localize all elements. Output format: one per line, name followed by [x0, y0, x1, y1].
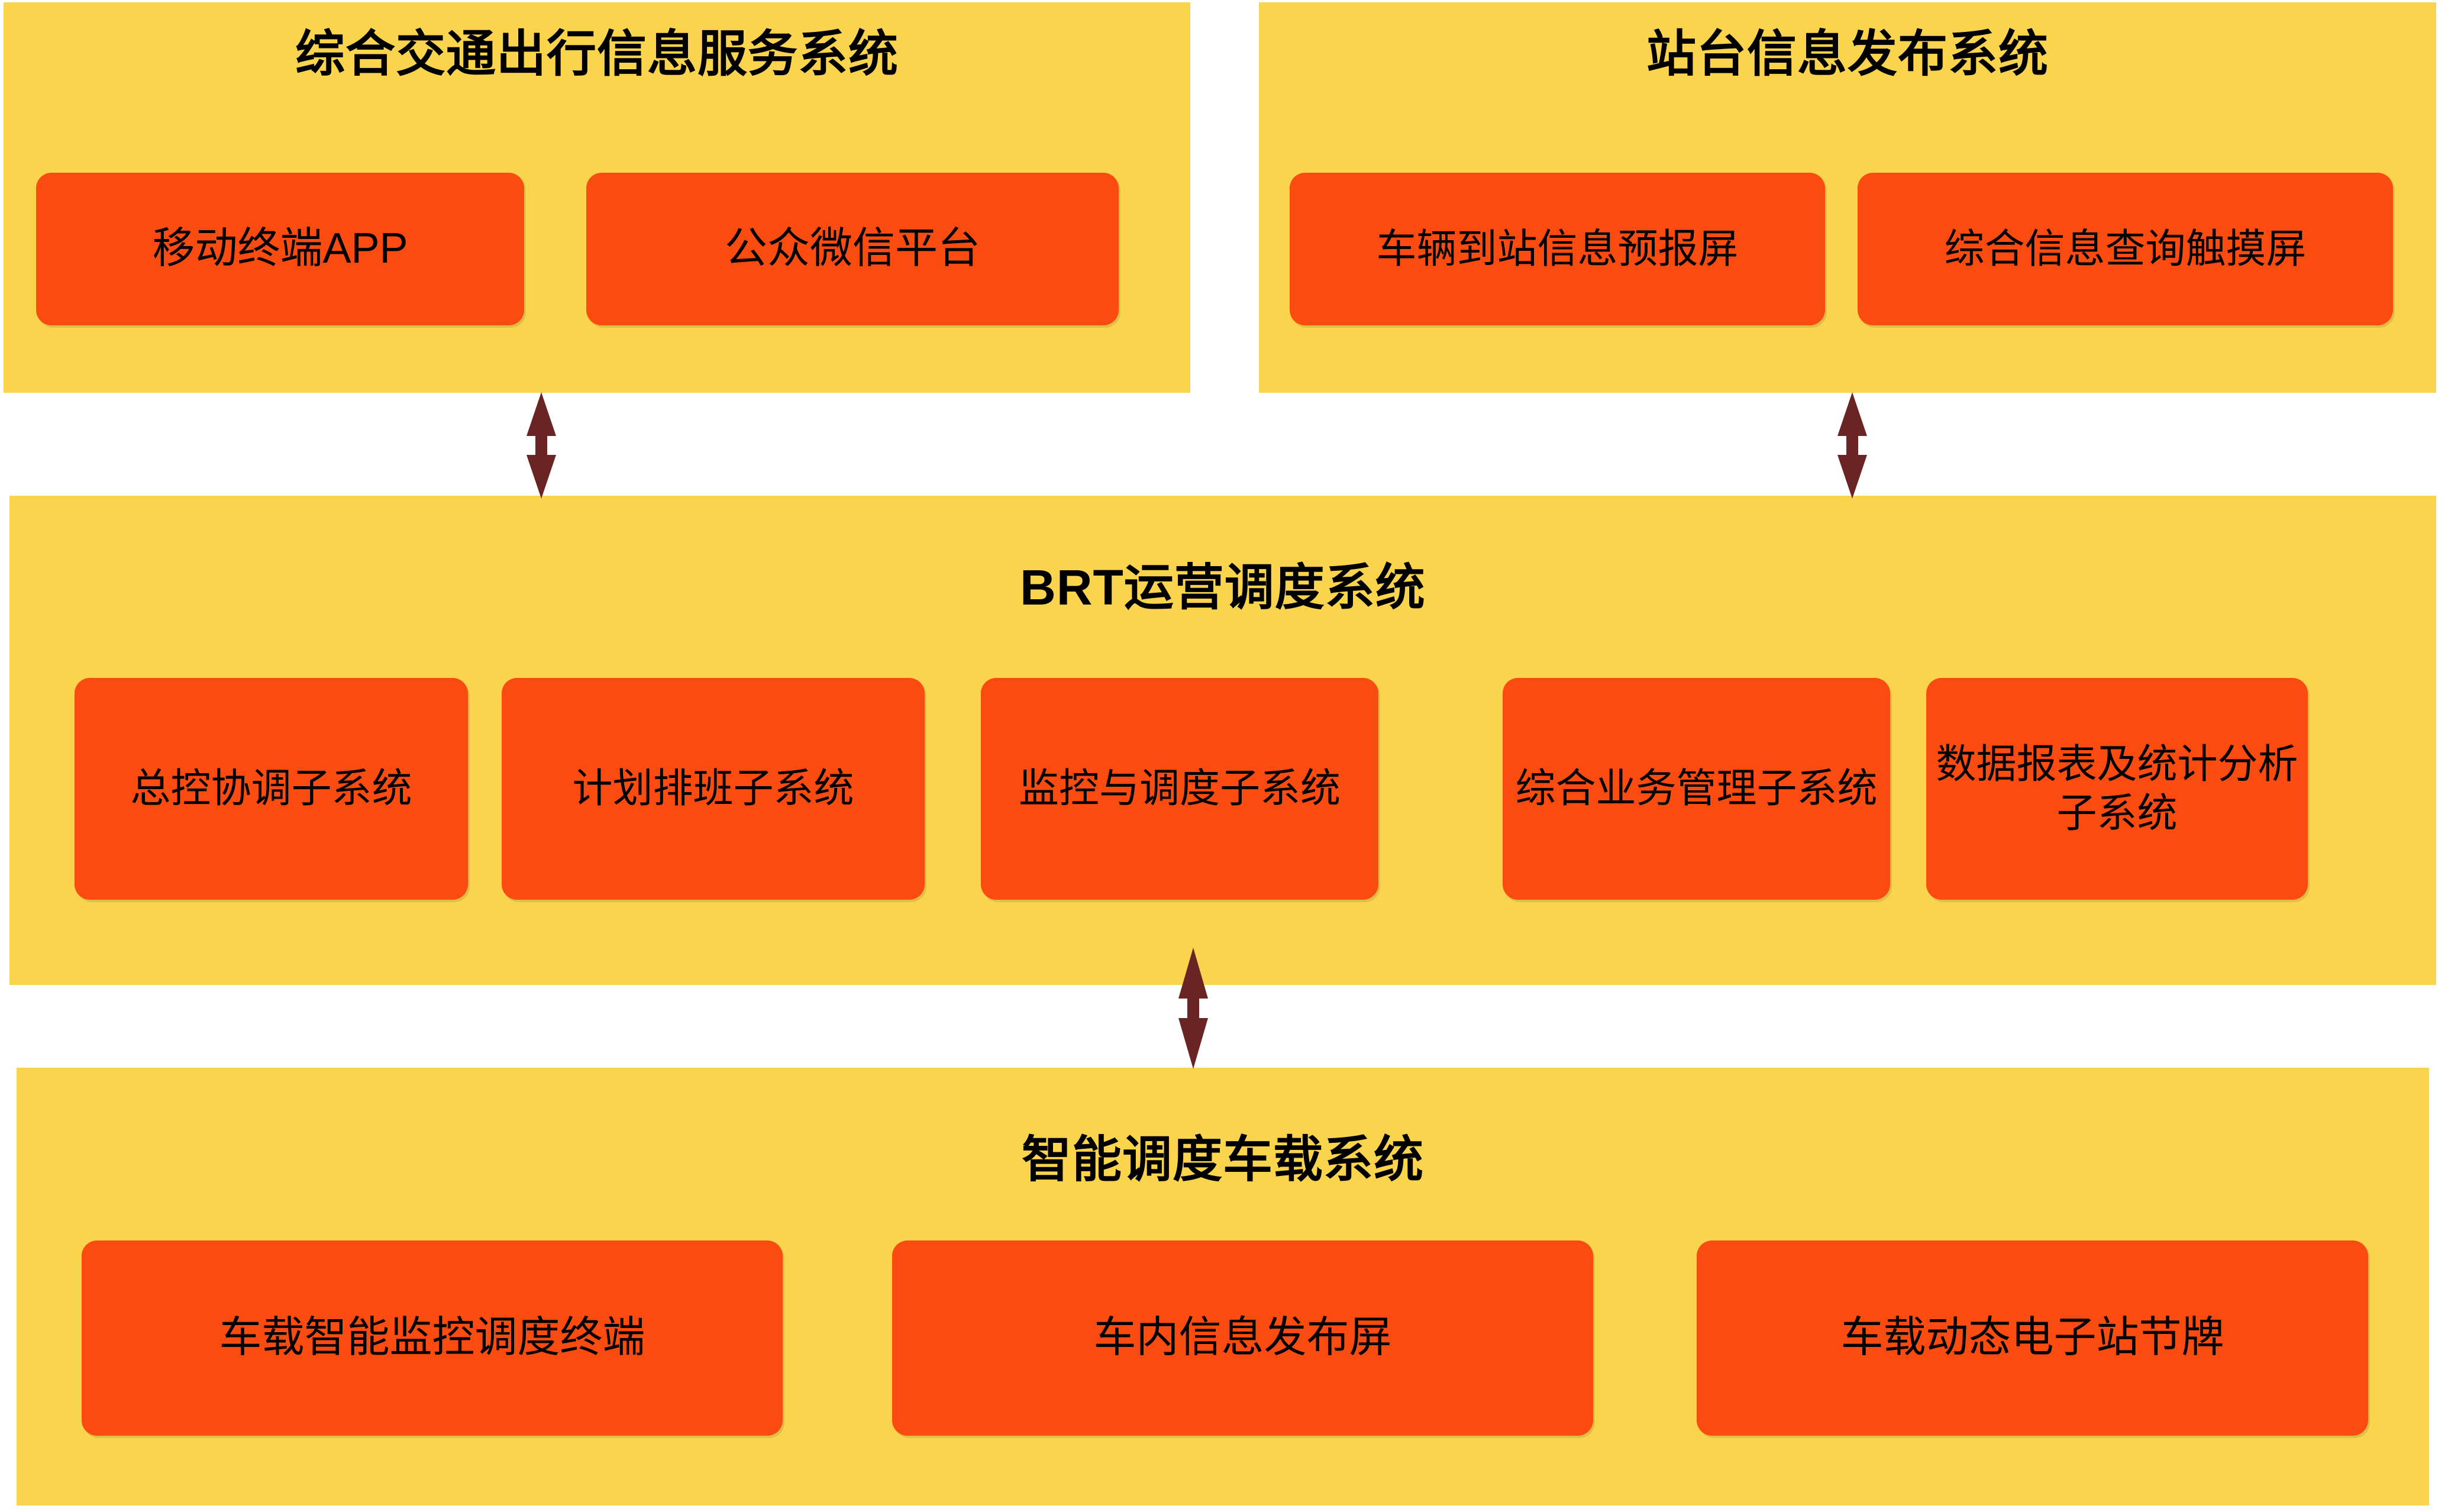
panel-platform-information-release-system: 站台信息发布系统 车辆到站信息预报屏 综合信息查询触摸屏 — [1259, 2, 2436, 393]
panel-title-travel-information-service-system: 综合交通出行信息服务系统 — [4, 14, 1190, 86]
box-onboard-intelligent-monitoring-dispatch-terminal[interactable]: 车载智能监控调度终端 — [82, 1240, 783, 1436]
box-central-control-coordination-subsystem[interactable]: 总控协调子系统 — [75, 678, 468, 900]
box-planning-shift-scheduling-subsystem[interactable]: 计划排班子系统 — [502, 678, 925, 900]
box-mobile-terminal-app[interactable]: 移动终端APP — [36, 173, 524, 325]
double-arrow-icon-travel-info-to-brt — [521, 392, 562, 499]
panel-title-intelligent-dispatch-onboard-system: 智能调度车载系统 — [17, 1120, 2429, 1191]
double-arrow-icon-platform-info-to-brt — [1832, 392, 1873, 499]
box-monitoring-dispatch-subsystem[interactable]: 监控与调度子系统 — [981, 678, 1378, 900]
box-integrated-information-query-touchscreen[interactable]: 综合信息查询触摸屏 — [1858, 173, 2393, 325]
box-in-vehicle-information-release-screen[interactable]: 车内信息发布屏 — [892, 1240, 1593, 1436]
panel-title-brt-operation-dispatch-system: BRT运营调度系统 — [9, 548, 2436, 619]
panel-brt-operation-dispatch-system: BRT运营调度系统 总控协调子系统 计划排班子系统 监控与调度子系统 综合业务管… — [9, 496, 2436, 985]
box-integrated-business-management-subsystem[interactable]: 综合业务管理子系统 — [1503, 678, 1890, 900]
panel-travel-information-service-system: 综合交通出行信息服务系统 移动终端APP 公众微信平台 — [4, 2, 1190, 393]
panel-title-platform-information-release-system: 站台信息发布系统 — [1259, 14, 2436, 86]
box-public-wechat-platform[interactable]: 公众微信平台 — [586, 173, 1119, 325]
box-onboard-dynamic-electronic-stop-sign[interactable]: 车载动态电子站节牌 — [1697, 1240, 2368, 1436]
panel-intelligent-dispatch-onboard-system: 智能调度车载系统 车载智能监控调度终端 车内信息发布屏 车载动态电子站节牌 — [17, 1068, 2429, 1505]
double-arrow-icon-brt-to-onboard — [1173, 948, 1214, 1069]
box-vehicle-arrival-forecast-screen[interactable]: 车辆到站信息预报屏 — [1290, 173, 1825, 325]
box-data-report-statistical-analysis-subsystem[interactable]: 数据报表及统计分析子系统 — [1926, 678, 2308, 900]
